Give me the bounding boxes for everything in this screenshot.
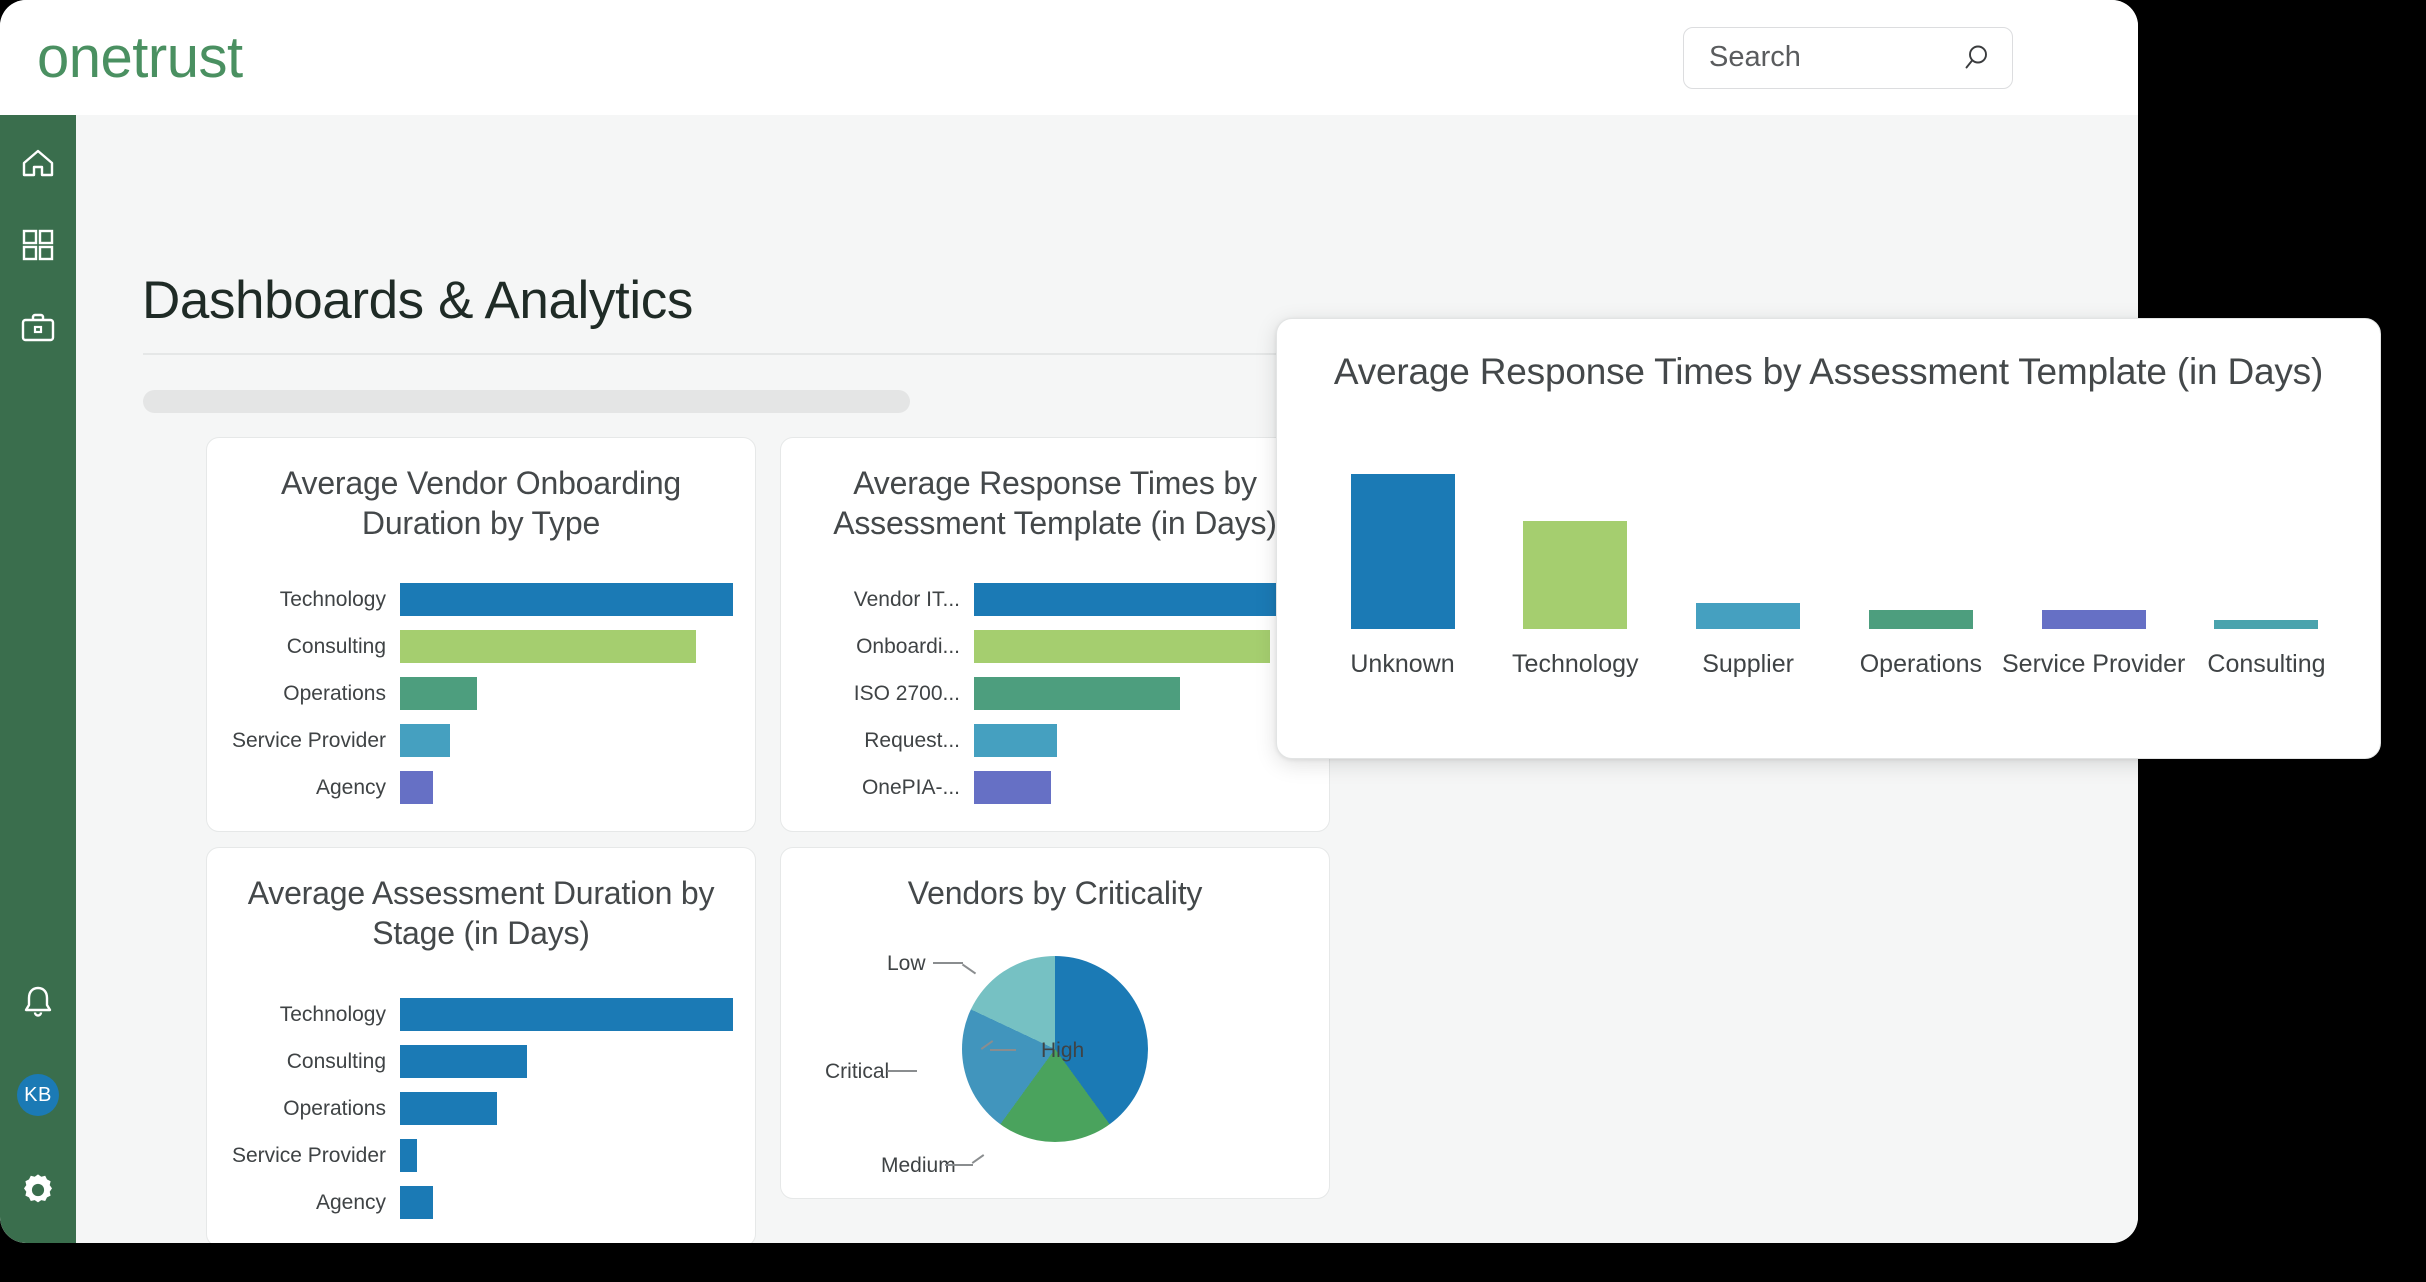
hbar-row: Technology [217,576,733,623]
vbar-label: Consulting [2207,650,2325,679]
hbar-fill[interactable] [400,1045,527,1078]
pie-label: Critical [825,1060,889,1084]
hbar-row: Technology [217,991,733,1038]
vbar-column: Consulting [2189,469,2344,679]
hbar-row: Request... [791,717,1307,764]
hbar-label: Technology [217,588,400,612]
card-response-times-large-highlighted[interactable]: Average Response Times by Assessment Tem… [1276,318,2381,759]
card-vendors-by-criticality[interactable]: Vendors by Criticality HighCriticalLowMe… [780,847,1330,1199]
card-response-times-small[interactable]: Average Response Times by Assessment Tem… [780,437,1330,832]
hbar-fill[interactable] [974,724,1057,757]
gear-icon [19,1171,57,1209]
vbar-fill[interactable] [1869,610,1973,629]
hbar-label: Agency [217,776,400,800]
vbar-label: Supplier [1702,650,1794,679]
card-vendor-onboarding[interactable]: Average Vendor Onboarding Duration by Ty… [206,437,756,832]
hbar-track [400,576,733,623]
vbar-column: Service Provider [2016,469,2171,679]
hbar-label: ISO 2700... [791,682,974,706]
pie-leader-line [990,1049,1016,1051]
hbar-track [974,623,1307,670]
pie-leader-line [962,964,976,975]
page-title: Dashboards & Analytics [142,270,693,331]
hbar-row: Service Provider [217,1132,733,1179]
hbar-label: Operations [217,682,400,706]
hbar-chart-assessment-stage: TechnologyConsultingOperationsService Pr… [207,991,755,1226]
sidebar-item-vendor-management[interactable] [0,303,76,353]
hbar-label: Request... [791,729,974,753]
vbar-fill[interactable] [2214,620,2318,629]
hbar-fill[interactable] [974,630,1270,663]
hbar-fill[interactable] [974,677,1180,710]
sidebar-item-settings[interactable] [0,1165,76,1215]
sidebar-item-avatar[interactable]: KB [0,1070,76,1120]
hbar-row: Operations [217,670,733,717]
hbar-track [400,991,733,1038]
hbar-label: Operations [217,1097,400,1121]
hbar-track [400,764,733,811]
card-title: Vendors by Criticality [781,848,1329,914]
sidebar-item-dashboards[interactable] [0,220,76,270]
app-header: onetrust [0,0,2138,115]
hbar-fill[interactable] [400,998,733,1031]
hbar-row: Consulting [217,623,733,670]
search-icon[interactable] [1960,43,1990,73]
hbar-label: OnePIA-... [791,776,974,800]
hbar-fill[interactable] [400,1139,417,1172]
hbar-row: OnePIA-... [791,764,1307,811]
hbar-chart-vendor-onboarding: TechnologyConsultingOperationsService Pr… [207,576,755,811]
hbar-row: Agency [217,1179,733,1226]
hbar-label: Vendor IT... [791,588,974,612]
avatar[interactable]: KB [17,1074,59,1116]
vbar-column: Unknown [1325,469,1480,679]
pie-leader-line [933,962,963,964]
search-box[interactable] [1683,27,2013,89]
sidebar-item-home[interactable] [0,138,76,188]
hbar-fill[interactable] [400,630,696,663]
hbar-label: Consulting [217,1050,400,1074]
hbar-track [400,1179,733,1226]
hbar-fill[interactable] [400,1092,497,1125]
card-title: Average Vendor Onboarding Duration by Ty… [207,438,755,543]
hbar-track [974,717,1307,764]
home-icon [20,147,56,179]
vbar-label: Operations [1860,650,1982,679]
hbar-fill[interactable] [400,583,733,616]
hbar-row: Operations [217,1085,733,1132]
search-input[interactable] [1684,41,1924,74]
hbar-fill[interactable] [400,1186,433,1219]
onetrust-logo[interactable]: onetrust [37,29,243,87]
vbar-column: Supplier [1671,469,1826,679]
hbar-row: Consulting [217,1038,733,1085]
hbar-row: Service Provider [217,717,733,764]
vbar-label: Service Provider [2002,650,2185,679]
hbar-track [974,576,1307,623]
vbar-fill[interactable] [1351,474,1455,629]
hbar-row: ISO 2700... [791,670,1307,717]
card-title: Average Response Times by Assessment Tem… [1277,319,2380,396]
hbar-fill[interactable] [974,771,1051,804]
hbar-track [974,764,1307,811]
pie-leader-line [972,1154,985,1164]
hbar-fill[interactable] [974,583,1307,616]
vbar-column: Operations [1843,469,1998,679]
hbar-label: Service Provider [217,1144,400,1168]
pie-label: Medium [881,1154,956,1178]
hbar-track [400,1085,733,1132]
pie-label: Low [887,952,926,976]
vbar-label: Technology [1512,650,1638,679]
hbar-row: Agency [217,764,733,811]
card-title: Average Assessment Duration by Stage (in… [207,848,755,953]
hbar-fill[interactable] [400,677,477,710]
hbar-label: Onboardi... [791,635,974,659]
hbar-fill[interactable] [400,724,450,757]
hbar-track [400,1038,733,1085]
hbar-chart-response-small: Vendor IT...Onboardi...ISO 2700...Reques… [781,576,1329,811]
sidebar-item-notifications[interactable] [0,977,76,1027]
pie-leader-line [887,1070,917,1072]
hbar-track [400,717,733,764]
vbar-column: Technology [1498,469,1653,679]
bell-icon [21,984,55,1020]
pie-label: High [1041,1039,1084,1063]
pie-leader-line [945,1164,973,1166]
vbar-fill[interactable] [1696,603,1800,629]
pie-chart-vendors-criticality: HighCriticalLowMedium [781,956,1329,1176]
card-title: Average Response Times by Assessment Tem… [781,438,1329,543]
hbar-track [400,670,733,717]
hbar-track [400,1132,733,1179]
card-assessment-duration[interactable]: Average Assessment Duration by Stage (in… [206,847,756,1243]
hbar-label: Agency [217,1191,400,1215]
sidebar: KB [0,115,76,1243]
vbar-fill[interactable] [1523,521,1627,630]
hbar-label: Consulting [217,635,400,659]
hbar-label: Service Provider [217,729,400,753]
loading-skeleton-bar [143,390,910,413]
briefcase-icon [20,312,56,344]
vbar-chart-response-large: UnknownTechnologySupplierOperationsServi… [1325,469,2344,679]
hbar-fill[interactable] [400,771,433,804]
hbar-track [974,670,1307,717]
vbar-fill[interactable] [2042,610,2146,629]
window-bottom-mask [0,1243,2138,1282]
hbar-label: Technology [217,1003,400,1027]
vbar-label: Unknown [1350,650,1454,679]
grid-icon [22,229,54,261]
hbar-track [400,623,733,670]
hbar-row: Onboardi... [791,623,1307,670]
hbar-row: Vendor IT... [791,576,1307,623]
